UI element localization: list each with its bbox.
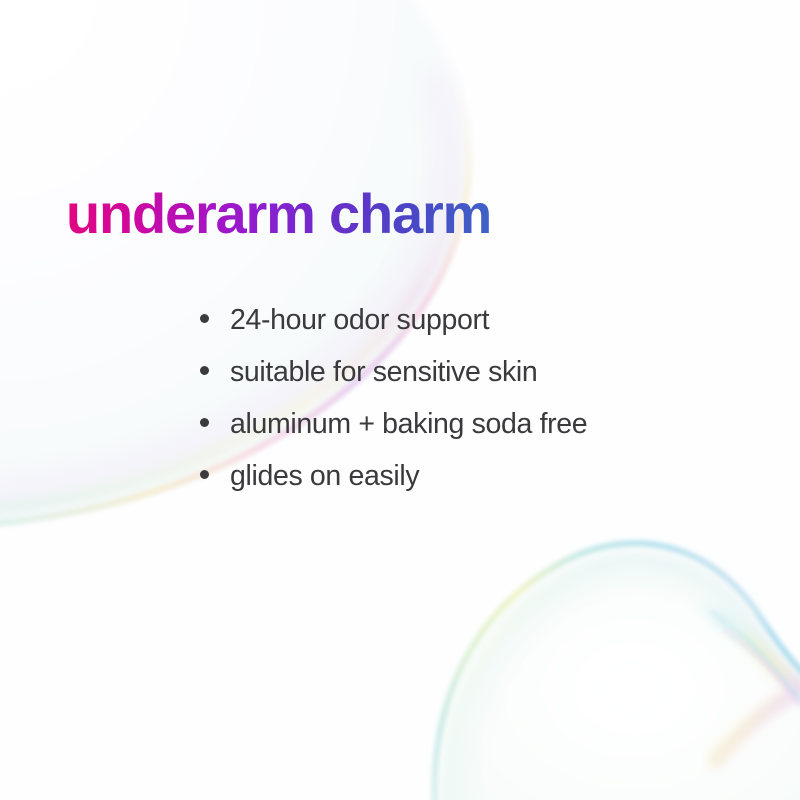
feature-label: suitable for sensitive skin xyxy=(230,358,537,387)
bullet-dot-icon xyxy=(200,418,209,427)
list-item: 24-hour odor support xyxy=(200,306,587,358)
feature-label: aluminum + baking soda free xyxy=(230,410,587,439)
list-item: glides on easily xyxy=(200,462,587,514)
bullet-dot-icon xyxy=(200,314,209,323)
page-title: underarm charm xyxy=(66,186,491,242)
bullet-dot-icon xyxy=(200,366,209,375)
feature-label: 24-hour odor support xyxy=(230,306,489,335)
feature-list: 24-hour odor support suitable for sensit… xyxy=(200,306,587,514)
copy-block: underarm charm 24-hour odor support suit… xyxy=(0,0,800,800)
list-item: aluminum + baking soda free xyxy=(200,410,587,462)
feature-label: glides on easily xyxy=(230,462,419,491)
list-item: suitable for sensitive skin xyxy=(200,358,587,410)
promo-graphic: underarm charm 24-hour odor support suit… xyxy=(0,0,800,800)
bullet-dot-icon xyxy=(200,470,209,479)
